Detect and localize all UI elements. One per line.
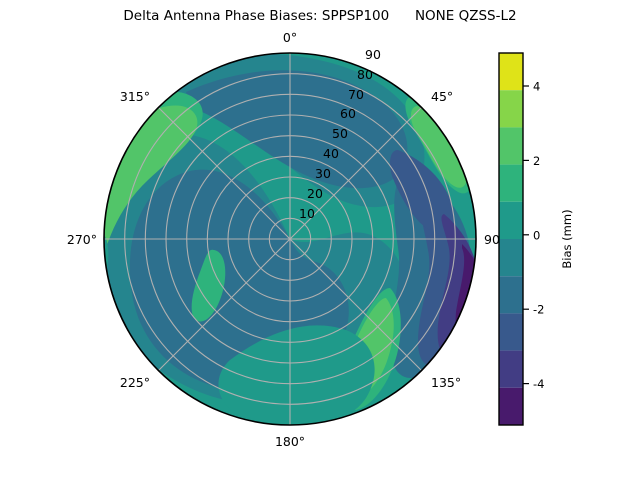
polar-axes: 0° 45° 90 135° 180° 225° 270° 315° 10 20… [58, 30, 500, 449]
cb-seg-6 [499, 165, 523, 202]
r-label-50[interactable]: 50 [332, 126, 348, 141]
theta-label-225[interactable]: 225° [120, 375, 150, 390]
theta-label-90[interactable]: 90 [484, 232, 500, 247]
cb-seg-0 [499, 388, 523, 425]
colorbar[interactable]: 4 2 0 -2 -4 Bias (mm) [499, 53, 574, 425]
colorbar-ticks [523, 86, 529, 384]
theta-label-45[interactable]: 45° [431, 89, 453, 104]
cb-seg-4 [499, 239, 523, 276]
cb-seg-9 [499, 53, 523, 90]
theta-label-0[interactable]: 0° [283, 30, 297, 45]
r-label-80[interactable]: 80 [357, 67, 373, 82]
theta-label-180[interactable]: 180° [275, 434, 305, 449]
r-label-60[interactable]: 60 [340, 106, 356, 121]
cb-tick-4: 4 [533, 80, 540, 94]
r-label-40[interactable]: 40 [323, 146, 339, 161]
cb-tick-0: 0 [533, 228, 540, 242]
theta-label-315[interactable]: 315° [120, 89, 150, 104]
r-label-90[interactable]: 90 [365, 47, 381, 62]
polar-plot-svg: 0° 45° 90 135° 180° 225° 270° 315° 10 20… [0, 0, 640, 480]
r-label-70[interactable]: 70 [348, 87, 364, 102]
cb-seg-3 [499, 276, 523, 313]
theta-label-135[interactable]: 135° [431, 375, 461, 390]
cb-seg-2 [499, 313, 523, 350]
r-label-30[interactable]: 30 [315, 166, 331, 181]
polar-grid-spokes [104, 53, 476, 425]
cb-seg-5 [499, 202, 523, 239]
cb-seg-8 [499, 90, 523, 127]
theta-label-270[interactable]: 270° [67, 232, 97, 247]
r-label-20[interactable]: 20 [307, 186, 323, 201]
cb-tick-m4: -4 [533, 377, 544, 391]
r-label-10[interactable]: 10 [299, 206, 315, 221]
cb-seg-1 [499, 351, 523, 388]
figure-canvas: Delta Antenna Phase Biases: SPPSP100 NON… [0, 0, 640, 480]
colorbar-swatches [499, 53, 523, 425]
colorbar-axis-label: Bias (mm) [560, 209, 574, 268]
cb-tick-2: 2 [533, 154, 540, 168]
colorbar-tick-labels: 4 2 0 -2 -4 [533, 80, 544, 392]
cb-tick-m2: -2 [533, 303, 544, 317]
cb-seg-7 [499, 127, 523, 164]
